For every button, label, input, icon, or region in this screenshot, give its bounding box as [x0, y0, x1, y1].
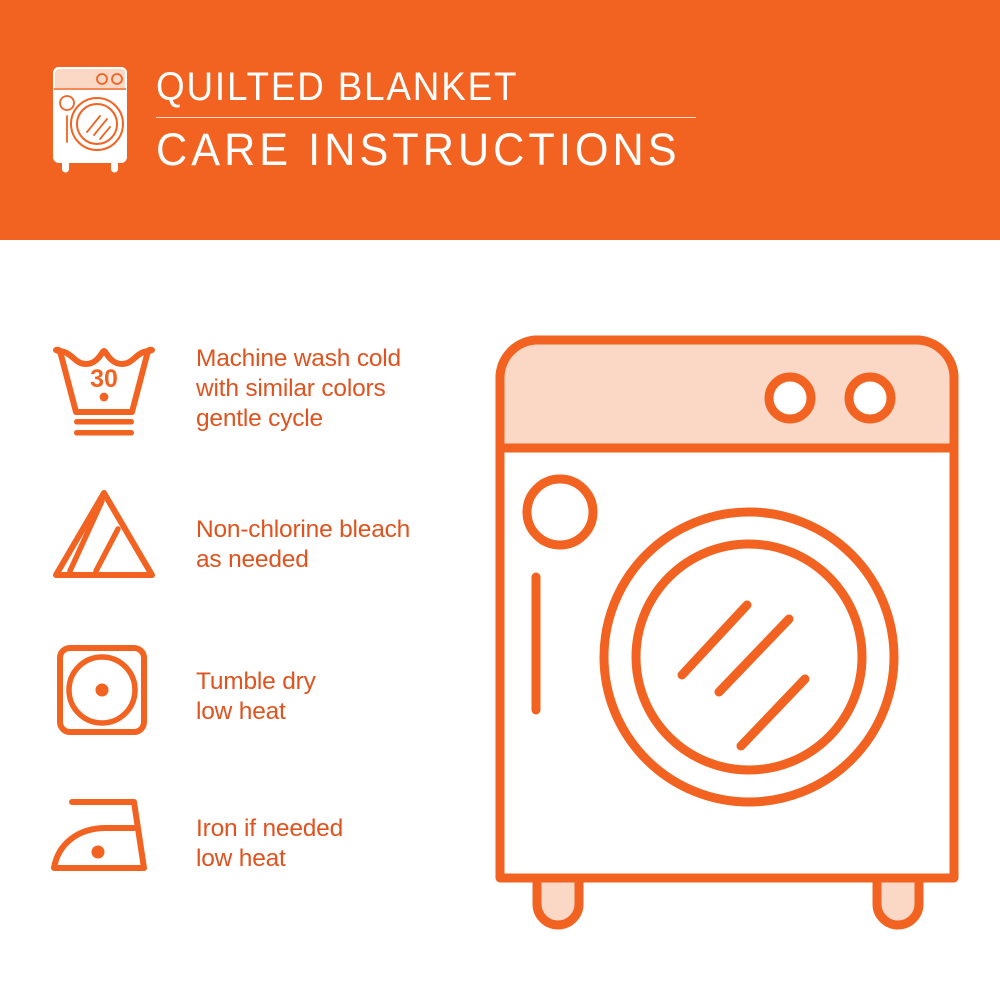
care-symbol-iron	[48, 790, 168, 890]
title-divider	[156, 117, 696, 118]
care-row-bleach: Non-chlorine bleach as needed	[48, 485, 468, 585]
care-instructions-page: QUILTED BLANKET CARE INSTRUCTIONS 30	[0, 0, 1000, 1000]
washing-machine-icon	[44, 62, 140, 174]
care-text-iron: Iron if needed low heat	[168, 790, 343, 874]
machine-leg-left	[537, 878, 579, 925]
machine-wash-tub-icon: 30	[48, 340, 160, 440]
header-content: QUILTED BLANKET CARE INSTRUCTIONS	[44, 62, 702, 176]
tumble-dry-icon	[48, 640, 160, 740]
care-instruction-list: 30 Machine wash cold with similar colors…	[0, 240, 470, 1000]
care-text-dry: Tumble dry low heat	[168, 640, 316, 727]
front-load-washing-machine-illustration	[492, 332, 962, 942]
header-banner: QUILTED BLANKET CARE INSTRUCTIONS	[0, 0, 1000, 240]
care-symbol-bleach	[48, 485, 168, 585]
care-text-bleach: Non-chlorine bleach as needed	[168, 485, 410, 575]
care-text-wash: Machine wash cold with similar colors ge…	[168, 340, 401, 434]
indicator-circle	[527, 479, 593, 545]
header-title-group: QUILTED BLANKET CARE INSTRUCTIONS	[156, 64, 702, 176]
control-knob-left	[769, 377, 811, 419]
care-symbol-dry	[48, 640, 168, 740]
iron-icon	[48, 790, 160, 890]
care-row-wash: 30 Machine wash cold with similar colors…	[48, 340, 468, 440]
care-symbol-wash: 30	[48, 340, 168, 440]
care-row-iron: Iron if needed low heat	[48, 790, 468, 890]
page-title-secondary: CARE INSTRUCTIONS	[156, 124, 681, 176]
wash-temperature-label: 30	[90, 365, 118, 393]
care-row-dry: Tumble dry low heat	[48, 640, 468, 740]
control-knob-right	[849, 377, 891, 419]
non-chlorine-bleach-triangle-icon	[48, 485, 160, 585]
page-title-primary: QUILTED BLANKET	[156, 64, 659, 110]
machine-leg-right	[877, 878, 919, 925]
